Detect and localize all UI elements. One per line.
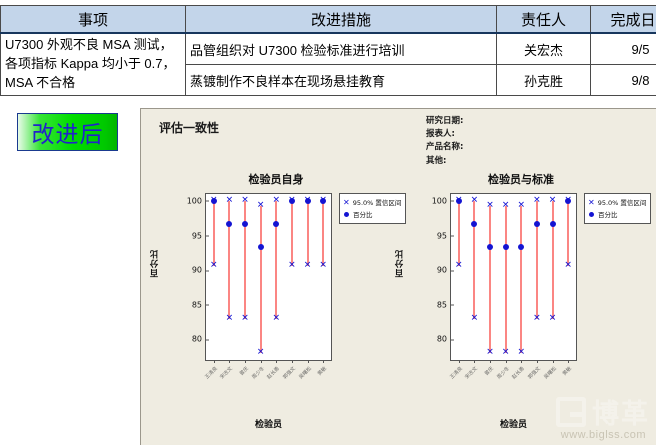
x-axis-tick bbox=[568, 360, 569, 363]
cell-item-description: U7300 外观不良 MSA 测试，各项指标 Kappa 均小于 0.7，MSA… bbox=[1, 33, 186, 96]
ci-bound-marker: ✕ bbox=[256, 202, 265, 211]
percent-data-point bbox=[289, 198, 295, 204]
ci-bound-marker: ✕ bbox=[256, 349, 265, 358]
after-improvement-badge: 改进后 bbox=[17, 113, 118, 151]
ci-bound-marker: ✕ bbox=[532, 315, 541, 324]
y-axis-tick-label: 85 bbox=[437, 300, 451, 309]
assessment-agreement-panel: 评估一致性 研究日期: 报表人: 产品名称: 其他: 检验员自身 百分比 808… bbox=[140, 108, 656, 445]
confidence-interval-line bbox=[213, 201, 215, 266]
x-axis-tick-label: 宋志文 bbox=[464, 365, 480, 381]
cell-measure: 品管组织对 U7300 检验标准进行培训 bbox=[186, 33, 497, 65]
percent-data-point bbox=[273, 221, 279, 227]
y-axis-tick-label: 85 bbox=[192, 300, 206, 309]
confidence-interval-line bbox=[520, 206, 522, 353]
x-axis-tick-label: 周少冬 bbox=[250, 365, 266, 381]
percent-data-point bbox=[226, 221, 232, 227]
y-axis-tick-label: 90 bbox=[192, 266, 206, 275]
ci-bound-marker: ✕ bbox=[564, 261, 573, 270]
x-axis-tick bbox=[214, 360, 215, 363]
x-axis-tick bbox=[323, 360, 324, 363]
confidence-interval-line bbox=[552, 201, 554, 319]
confidence-interval-line bbox=[505, 206, 507, 353]
meta-reporter: 报表人: bbox=[426, 128, 463, 141]
x-axis-tick bbox=[459, 360, 460, 363]
percent-data-point bbox=[320, 198, 326, 204]
table-body: U7300 外观不良 MSA 测试，各项指标 Kappa 均小于 0.7，MSA… bbox=[1, 33, 656, 96]
ci-bound-marker: ✕ bbox=[454, 261, 463, 270]
confidence-interval-line bbox=[291, 201, 293, 266]
ci-bound-marker: ✕ bbox=[517, 202, 526, 211]
percent-data-point bbox=[565, 198, 571, 204]
x-axis-tick-label: 赵长勇 bbox=[266, 365, 282, 381]
legend-entry-percent: 百分比 bbox=[588, 210, 646, 220]
chart-title: 检验员与标准 bbox=[396, 171, 646, 187]
after-improvement-badge-label: 改进后 bbox=[32, 115, 104, 149]
confidence-interval-line bbox=[260, 206, 262, 353]
table-row: U7300 外观不良 MSA 测试，各项指标 Kappa 均小于 0.7，MSA… bbox=[1, 33, 656, 65]
x-marker-icon: ✕ bbox=[343, 197, 350, 210]
ci-bound-marker: ✕ bbox=[486, 349, 495, 358]
chart-legend: ✕ 95.0% 置信区间 百分比 bbox=[584, 193, 651, 224]
ci-bound-marker: ✕ bbox=[225, 196, 234, 205]
chart-within-appraiser: 检验员自身 百分比 80859095100王清良✕✕宋志文✕✕曾庆✕✕周少冬✕✕… bbox=[151, 171, 401, 443]
study-metadata: 研究日期: 报表人: 产品名称: 其他: bbox=[426, 115, 463, 168]
ci-bound-marker: ✕ bbox=[486, 202, 495, 211]
x-axis-tick bbox=[229, 360, 230, 363]
legend-label-percent: 百分比 bbox=[598, 210, 618, 220]
ci-bound-marker: ✕ bbox=[241, 315, 250, 324]
improvement-action-table: 事项 改进措施 责任人 完成日期 U7300 外观不良 MSA 测试，各项指标 … bbox=[0, 5, 656, 96]
chart-y-axis-label: 百分比 bbox=[394, 249, 406, 278]
legend-label-ci: 95.0% 置信区间 bbox=[598, 198, 647, 208]
chart-x-axis-label: 检验员 bbox=[450, 417, 577, 430]
ci-bound-marker: ✕ bbox=[303, 261, 312, 270]
dot-marker-icon bbox=[344, 212, 349, 217]
ci-bound-marker: ✕ bbox=[241, 196, 250, 205]
x-axis-tick-label: 吴曙松 bbox=[542, 365, 558, 381]
x-axis-tick-label: 郭强文 bbox=[526, 365, 542, 381]
chart-y-axis-label: 百分比 bbox=[149, 249, 161, 278]
x-axis-tick-label: 赵长勇 bbox=[511, 365, 527, 381]
percent-data-point bbox=[471, 221, 477, 227]
x-axis-tick-label: 黄敏 bbox=[316, 365, 328, 377]
legend-label-percent: 百分比 bbox=[353, 210, 373, 220]
confidence-interval-line bbox=[536, 201, 538, 319]
column-header-person: 责任人 bbox=[497, 6, 591, 34]
column-header-item: 事项 bbox=[1, 6, 186, 34]
x-axis-tick-label: 宋志文 bbox=[219, 365, 235, 381]
legend-entry-ci: ✕ 95.0% 置信区间 bbox=[343, 197, 401, 210]
ci-bound-marker: ✕ bbox=[272, 196, 281, 205]
panel-title: 评估一致性 bbox=[159, 119, 219, 136]
x-axis-tick bbox=[261, 360, 262, 363]
x-axis-tick-label: 曾庆 bbox=[238, 365, 250, 377]
legend-entry-ci: ✕ 95.0% 置信区间 bbox=[588, 197, 646, 210]
x-axis-tick bbox=[276, 360, 277, 363]
x-axis-tick-label: 周少冬 bbox=[495, 365, 511, 381]
x-marker-icon: ✕ bbox=[588, 197, 595, 210]
x-axis-tick bbox=[292, 360, 293, 363]
meta-study-date: 研究日期: bbox=[426, 115, 463, 128]
x-axis-tick-label: 吴曙松 bbox=[297, 365, 313, 381]
cell-person: 关宏杰 bbox=[497, 33, 591, 65]
percent-data-point bbox=[518, 244, 524, 250]
cell-date: 9/8 bbox=[591, 65, 656, 96]
plot-area: 80859095100王清良✕✕宋志文✕✕曾庆✕✕周少冬✕✕赵长勇✕✕郭强文✕✕… bbox=[205, 193, 332, 361]
ci-bound-marker: ✕ bbox=[532, 196, 541, 205]
column-header-date: 完成日期 bbox=[591, 6, 656, 34]
ci-bound-marker: ✕ bbox=[470, 196, 479, 205]
y-axis-tick-label: 80 bbox=[437, 335, 451, 344]
x-axis-tick-label: 曾庆 bbox=[483, 365, 495, 377]
cell-person: 孙克胜 bbox=[497, 65, 591, 96]
meta-product-name: 产品名称: bbox=[426, 141, 463, 154]
y-axis-tick-label: 95 bbox=[192, 231, 206, 240]
ci-bound-marker: ✕ bbox=[548, 196, 557, 205]
percent-data-point bbox=[258, 244, 264, 250]
percent-data-point bbox=[534, 221, 540, 227]
confidence-interval-line bbox=[228, 201, 230, 319]
chart-x-axis-label: 检验员 bbox=[205, 417, 332, 430]
x-axis-tick bbox=[308, 360, 309, 363]
ci-bound-marker: ✕ bbox=[548, 315, 557, 324]
column-header-measure: 改进措施 bbox=[186, 6, 497, 34]
x-axis-tick bbox=[521, 360, 522, 363]
percent-data-point bbox=[550, 221, 556, 227]
x-axis-tick bbox=[245, 360, 246, 363]
cell-measure: 蒸镀制作不良样本在现场悬挂教育 bbox=[186, 65, 497, 96]
cell-date: 9/5 bbox=[591, 33, 656, 65]
confidence-interval-line bbox=[275, 201, 277, 319]
ci-bound-marker: ✕ bbox=[225, 315, 234, 324]
ci-bound-marker: ✕ bbox=[209, 261, 218, 270]
x-axis-tick bbox=[506, 360, 507, 363]
percent-data-point bbox=[503, 244, 509, 250]
percent-data-point bbox=[487, 244, 493, 250]
x-axis-tick bbox=[553, 360, 554, 363]
percent-data-point bbox=[242, 221, 248, 227]
ci-bound-marker: ✕ bbox=[517, 349, 526, 358]
meta-other: 其他: bbox=[426, 155, 463, 168]
table-header: 事项 改进措施 责任人 完成日期 bbox=[1, 6, 656, 34]
plot-area: 80859095100王清良✕✕宋志文✕✕曾庆✕✕周少冬✕✕赵长勇✕✕郭强文✕✕… bbox=[450, 193, 577, 361]
x-axis-tick-label: 王清良 bbox=[203, 365, 219, 381]
confidence-interval-line bbox=[307, 201, 309, 266]
confidence-interval-line bbox=[322, 201, 324, 266]
x-axis-tick-label: 王清良 bbox=[448, 365, 464, 381]
chart-appraiser-vs-standard: 检验员与标准 百分比 80859095100王清良✕✕宋志文✕✕曾庆✕✕周少冬✕… bbox=[396, 171, 646, 443]
percent-data-point bbox=[456, 198, 462, 204]
ci-bound-marker: ✕ bbox=[272, 315, 281, 324]
legend-entry-percent: 百分比 bbox=[343, 210, 401, 220]
legend-label-ci: 95.0% 置信区间 bbox=[353, 198, 402, 208]
x-axis-tick bbox=[490, 360, 491, 363]
y-axis-tick-label: 95 bbox=[437, 231, 451, 240]
ci-bound-marker: ✕ bbox=[319, 261, 328, 270]
y-axis-tick-label: 100 bbox=[432, 196, 451, 205]
percent-data-point bbox=[305, 198, 311, 204]
ci-bound-marker: ✕ bbox=[470, 315, 479, 324]
x-axis-tick-label: 郭强文 bbox=[281, 365, 297, 381]
confidence-interval-line bbox=[489, 206, 491, 353]
y-axis-tick-label: 100 bbox=[187, 196, 206, 205]
confidence-interval-line bbox=[458, 201, 460, 266]
ci-bound-marker: ✕ bbox=[287, 261, 296, 270]
confidence-interval-line bbox=[567, 201, 569, 266]
x-axis-tick bbox=[537, 360, 538, 363]
x-axis-tick-label: 黄敏 bbox=[561, 365, 573, 377]
chart-title: 检验员自身 bbox=[151, 171, 401, 187]
table-header-row: 事项 改进措施 责任人 完成日期 bbox=[1, 6, 656, 34]
x-axis-tick bbox=[474, 360, 475, 363]
confidence-interval-line bbox=[244, 201, 246, 319]
y-axis-tick-label: 90 bbox=[437, 266, 451, 275]
y-axis-tick-label: 80 bbox=[192, 335, 206, 344]
percent-data-point bbox=[211, 198, 217, 204]
ci-bound-marker: ✕ bbox=[501, 349, 510, 358]
ci-bound-marker: ✕ bbox=[501, 202, 510, 211]
confidence-interval-line bbox=[473, 201, 475, 319]
dot-marker-icon bbox=[589, 212, 594, 217]
